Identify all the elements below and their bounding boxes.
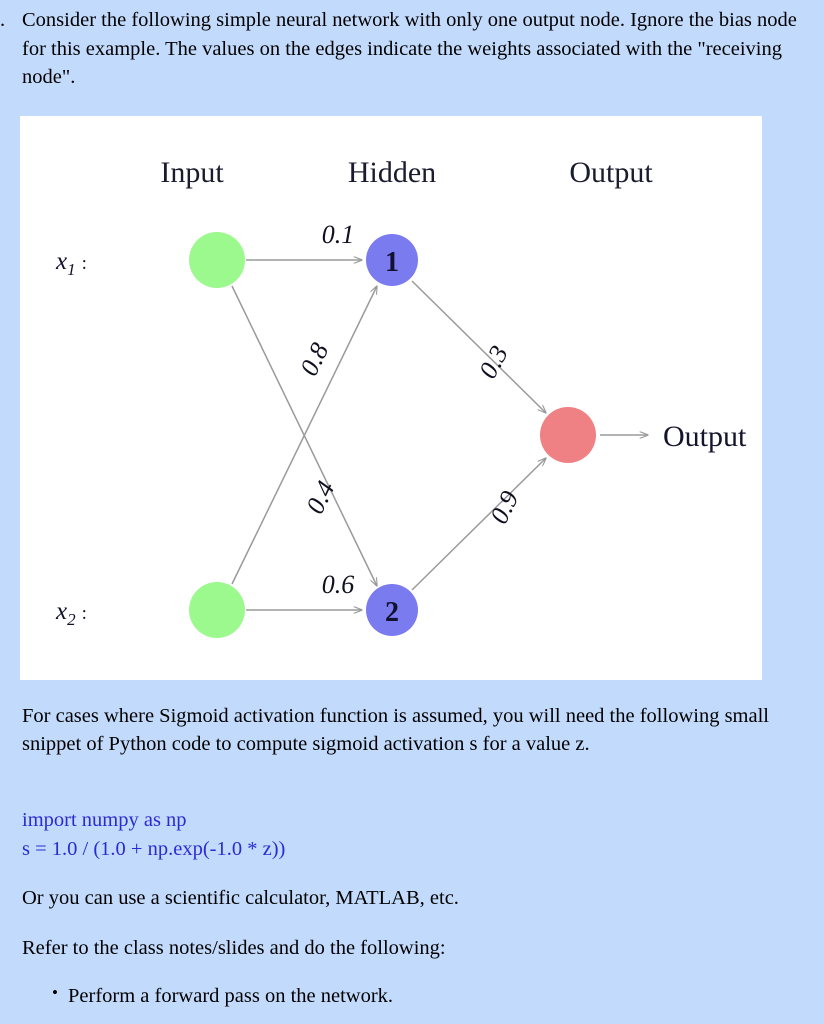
python-code-block: import numpy as np s = 1.0 / (1.0 + np.e… xyxy=(22,806,784,863)
edge-weight-x1-h2: 0.4 xyxy=(300,476,340,518)
edge-weight-x1-h1: 0.1 xyxy=(322,220,355,249)
list-item-label: Perform a forward pass on the network. xyxy=(68,985,393,1007)
intro-list-marker: . xyxy=(0,6,14,34)
edge-weight-x2-h1: 0.8 xyxy=(294,338,334,380)
question-page: . Consider the following simple neural n… xyxy=(0,0,824,1024)
network-graphic: Input Hidden Output x1: x2: 1 2 Ou xyxy=(20,116,762,680)
intro-paragraph: . Consider the following simple neural n… xyxy=(0,6,800,91)
column-header-output: Output xyxy=(569,156,653,189)
code-line-sigmoid: s = 1.0 / (1.0 + np.exp(-1.0 * z)) xyxy=(22,835,784,864)
input-label-x1: x1: xyxy=(55,248,87,279)
task-bullet-list: • Perform a forward pass on the network. xyxy=(22,982,784,1011)
column-header-hidden: Hidden xyxy=(348,156,436,189)
node-hidden-1-label: 1 xyxy=(385,247,399,278)
node-input-x1 xyxy=(189,232,245,288)
sigmoid-paragraph: For cases where Sigmoid activation funct… xyxy=(22,702,784,759)
edge-h1-out xyxy=(412,281,546,413)
calculator-paragraph: Or you can use a scientific calculator, … xyxy=(22,884,784,912)
edge-weight-x2-h2: 0.6 xyxy=(322,570,355,599)
list-item: • Perform a forward pass on the network. xyxy=(22,982,784,1011)
input-label-x2: x2: xyxy=(55,598,87,629)
refer-paragraph: Refer to the class notes/slides and do t… xyxy=(22,934,784,962)
neural-network-diagram: Input Hidden Output x1: x2: 1 2 Ou xyxy=(20,116,762,680)
intro-text: Consider the following simple neural net… xyxy=(22,6,798,91)
edge-weight-h2-out: 0.9 xyxy=(484,486,524,528)
output-node-label: Output xyxy=(663,420,747,453)
node-input-x2 xyxy=(189,582,245,638)
code-line-import: import numpy as np xyxy=(22,806,784,835)
node-output xyxy=(540,407,596,463)
node-hidden-2-label: 2 xyxy=(385,597,399,628)
column-header-input: Input xyxy=(160,156,224,189)
bullet-dot-icon: • xyxy=(52,981,58,1005)
edge-h2-out xyxy=(412,458,546,590)
